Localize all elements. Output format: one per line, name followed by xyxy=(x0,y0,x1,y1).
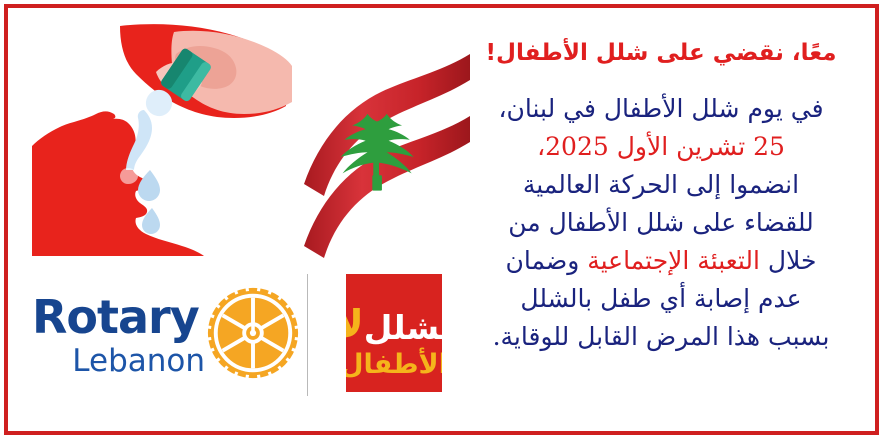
body-segment: 25 تشرين الأول 2025، xyxy=(537,132,785,161)
rotary-lebanon-logo: Rotary Lebanon xyxy=(24,278,302,396)
badge-line-shalal: لشلل xyxy=(364,308,442,350)
rotary-wordmark: Rotary Lebanon xyxy=(32,292,207,394)
artwork-zone xyxy=(10,10,460,258)
badge-line-no: لا xyxy=(346,304,364,350)
poster-headline: معًا، نقضي على شلل الأطفال! xyxy=(452,38,870,68)
message-column: معًا، نقضي على شلل الأطفال! في يوم شلل ا… xyxy=(452,16,870,426)
rotary-gear-wheel-icon xyxy=(204,284,302,382)
rotary-wordmark-main: Rotary xyxy=(32,292,207,342)
rotary-wordmark-sub: Lebanon xyxy=(32,342,207,380)
body-segment: في يوم شلل الأطفال في لبنان، xyxy=(498,94,823,123)
poster-canvas: Rotary Lebanon xyxy=(0,0,883,439)
body-segment: وضمان xyxy=(506,246,588,275)
body-line: 25 تشرين الأول 2025، xyxy=(452,128,870,166)
lebanon-flag-illustration xyxy=(298,18,474,266)
body-segment: خلال xyxy=(760,246,816,275)
polio-vaccination-illustration xyxy=(24,18,292,263)
body-segment: انضموا إلى الحركة العالمية xyxy=(523,170,799,199)
body-segment: بسبب هذا المرض القابل للوقاية. xyxy=(493,322,830,351)
body-line: للقضاء على شلل الأطفال من xyxy=(452,204,870,242)
body-line: في يوم شلل الأطفال في لبنان، xyxy=(452,90,870,128)
body-line: بسبب هذا المرض القابل للوقاية. xyxy=(452,318,870,356)
logo-band: Rotary Lebanon xyxy=(12,262,462,430)
badge-top-row: لشلل لا xyxy=(346,288,442,350)
body-segment: عدم إصابة أي طفل بالشلل xyxy=(520,284,801,313)
logo-divider xyxy=(307,274,308,396)
poster-body-text: في يوم شلل الأطفال في لبنان،25 تشرين الأ… xyxy=(452,90,870,356)
body-segment: للقضاء على شلل الأطفال من xyxy=(508,208,814,237)
no-to-polio-badge: لشلل لا الأطفال xyxy=(346,274,442,392)
body-line: انضموا إلى الحركة العالمية xyxy=(452,166,870,204)
badge-line-atfal: الأطفال xyxy=(346,350,442,380)
body-segment: التعبئة الإجتماعية xyxy=(587,246,760,275)
body-line: عدم إصابة أي طفل بالشلل xyxy=(452,280,870,318)
body-line: خلال التعبئة الإجتماعية وضمان xyxy=(452,242,870,280)
